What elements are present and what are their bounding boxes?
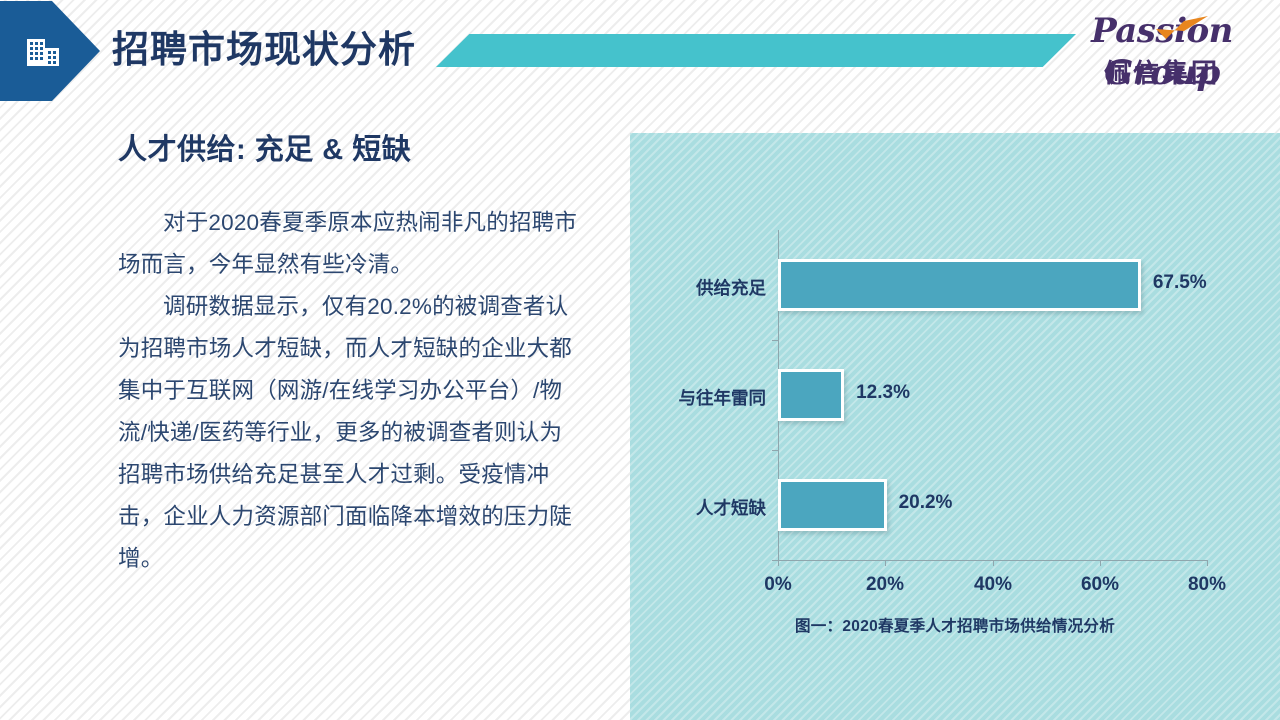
bar-value-label: 12.3% [856,382,910,404]
bar-value-label: 67.5% [1153,272,1207,294]
page-title: 招聘市场现状分析 [112,19,416,73]
header-ribbon-shape [436,34,1076,67]
x-axis-tick-label: 60% [1081,574,1119,596]
value-tick [1100,560,1101,566]
x-axis-tick-label: 80% [1188,574,1226,596]
chart-panel: 供给充足 67.5% 与往年雷同 12.3% 人才短缺 20.2% 0% 20%… [630,133,1280,720]
value-tick [885,560,886,566]
slide-canvas: 招聘市场现状分析 Passion Group 佩信集团 人才供给: 充足 & 短… [0,0,1280,720]
orange-check-swoosh-icon [1154,15,1210,41]
value-tick [993,560,994,566]
company-logo: Passion Group 佩信集团 [1056,10,1268,88]
body-paragraph-1: 对于2020春夏季原本应热闹非凡的招聘市场而言，今年显然有些冷清。 [118,202,578,286]
bar-same-as-previous-years[interactable] [778,369,844,421]
logo-chinese-text: 佩信集团 [1056,53,1268,90]
bar-category-label: 供给充足 [626,275,766,300]
left-content-column: 人才供给: 充足 & 短缺 对于2020春夏季原本应热闹非凡的招聘市场而言，今年… [118,126,578,580]
x-axis-tick-label: 20% [866,574,904,596]
bar-talent-shortage[interactable] [778,479,887,531]
category-tick [772,450,778,451]
header-badge-shape [0,1,100,101]
office-building-icon [26,37,60,67]
body-paragraph-2: 调研数据显示，仅有20.2%的被调查者认为招聘市场人才短缺，而人才短缺的企业大都… [118,286,578,580]
section-heading: 人才供给: 充足 & 短缺 [118,126,578,168]
category-tick [772,340,778,341]
bar-supply-sufficient[interactable] [778,259,1141,311]
chart-caption: 图一：2020春夏季人才招聘市场供给情况分析 [630,614,1280,636]
bar-chart-plot-area: 供给充足 67.5% 与往年雷同 12.3% 人才短缺 20.2% 0% 20%… [778,230,1208,560]
bar-value-label: 20.2% [899,492,953,514]
x-axis-tick-label: 40% [974,574,1012,596]
bar-category-label: 人才短缺 [626,495,766,520]
value-tick [1207,560,1208,566]
x-axis-tick-label: 0% [764,574,791,596]
slide-header: 招聘市场现状分析 Passion Group 佩信集团 [0,0,1280,108]
bar-category-label: 与往年雷同 [626,385,766,410]
value-tick [778,560,779,566]
